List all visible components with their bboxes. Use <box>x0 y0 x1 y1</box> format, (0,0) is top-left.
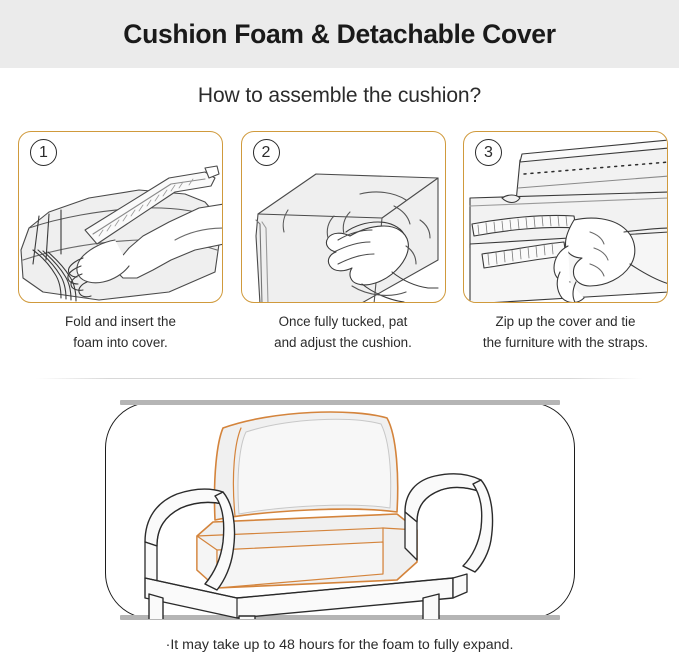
step-3-caption-line-2: the furniture with the straps. <box>457 332 674 353</box>
footnote-text: ·It may take up to 48 hours for the foam… <box>0 637 679 653</box>
step-2-caption-line-2: and adjust the cushion. <box>235 332 452 353</box>
armchair-with-cushions-icon <box>105 402 575 619</box>
step-1-number-badge: 1 <box>30 139 57 166</box>
step-2-caption: Once fully tucked, pat and adjust the cu… <box>235 311 452 353</box>
step-3: 3 Zip up the cover and tie the furniture… <box>463 131 668 367</box>
step-3-illustration-panel: 3 <box>463 131 668 303</box>
section-divider <box>36 378 643 379</box>
step-3-number-badge: 3 <box>475 139 502 166</box>
step-1-caption: Fold and insert the foam into cover. <box>12 311 229 353</box>
step-2: 2 Once fully tucked, pat and adjust the … <box>241 131 446 367</box>
step-1-caption-line-1: Fold and insert the <box>12 311 229 332</box>
page-title: Cushion Foam & Detachable Cover <box>0 0 679 68</box>
step-2-number-badge: 2 <box>253 139 280 166</box>
step-1-caption-line-2: foam into cover. <box>12 332 229 353</box>
step-1-illustration-panel: 1 <box>18 131 223 303</box>
step-2-illustration-panel: 2 <box>241 131 446 303</box>
step-2-caption-line-1: Once fully tucked, pat <box>235 311 452 332</box>
step-1: 1 Fold and insert the foam into cover. <box>18 131 223 367</box>
assembly-steps-row: 1 Fold and insert the foam into cover. <box>18 131 668 367</box>
step-3-caption-line-1: Zip up the cover and tie <box>457 311 674 332</box>
section-subtitle: How to assemble the cushion? <box>0 84 679 108</box>
step-3-caption: Zip up the cover and tie the furniture w… <box>457 311 674 353</box>
